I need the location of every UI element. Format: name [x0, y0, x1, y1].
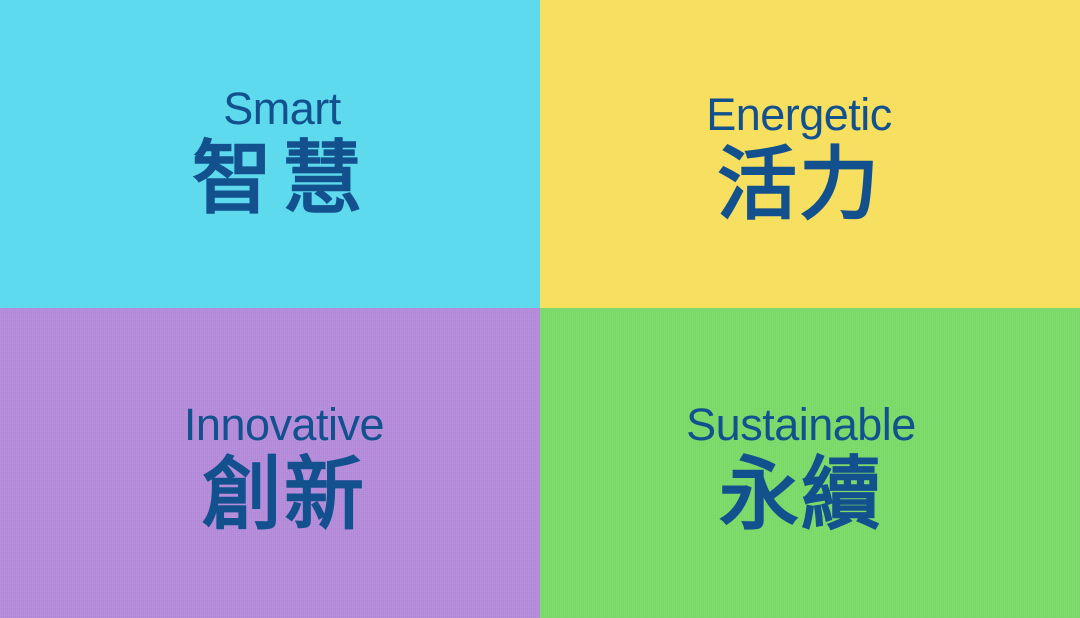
quadrant-sustainable-english-label: Sustainable: [686, 402, 916, 447]
quadrant-smart-chinese-label: 智慧: [192, 139, 372, 219]
quadrant-energetic-english-label: Energetic: [706, 92, 892, 137]
quadrant-sustainable-text-block: Sustainable 永續: [686, 402, 916, 535]
quadrant-smart-text-block: Smart 智慧: [192, 86, 372, 219]
quadrant-smart-english-label: Smart: [223, 86, 341, 131]
quadrant-energetic-chinese-label: 活力: [717, 145, 881, 225]
brand-values-board: Smart 智慧 Energetic 活力 Innovative 創新 Sust…: [0, 0, 1080, 618]
quadrant-smart: Smart 智慧: [0, 0, 540, 308]
quadrant-innovative-chinese-label: 創新: [202, 455, 366, 535]
quadrant-innovative-english-label: Innovative: [184, 402, 384, 447]
quadrant-energetic: Energetic 活力: [540, 0, 1080, 308]
quadrant-sustainable-chinese-label: 永續: [719, 455, 883, 535]
quadrant-sustainable: Sustainable 永續: [540, 308, 1080, 618]
quadrant-energetic-text-block: Energetic 活力: [706, 92, 892, 225]
quadrant-innovative-text-block: Innovative 創新: [184, 402, 384, 535]
quadrant-innovative: Innovative 創新: [0, 308, 540, 618]
